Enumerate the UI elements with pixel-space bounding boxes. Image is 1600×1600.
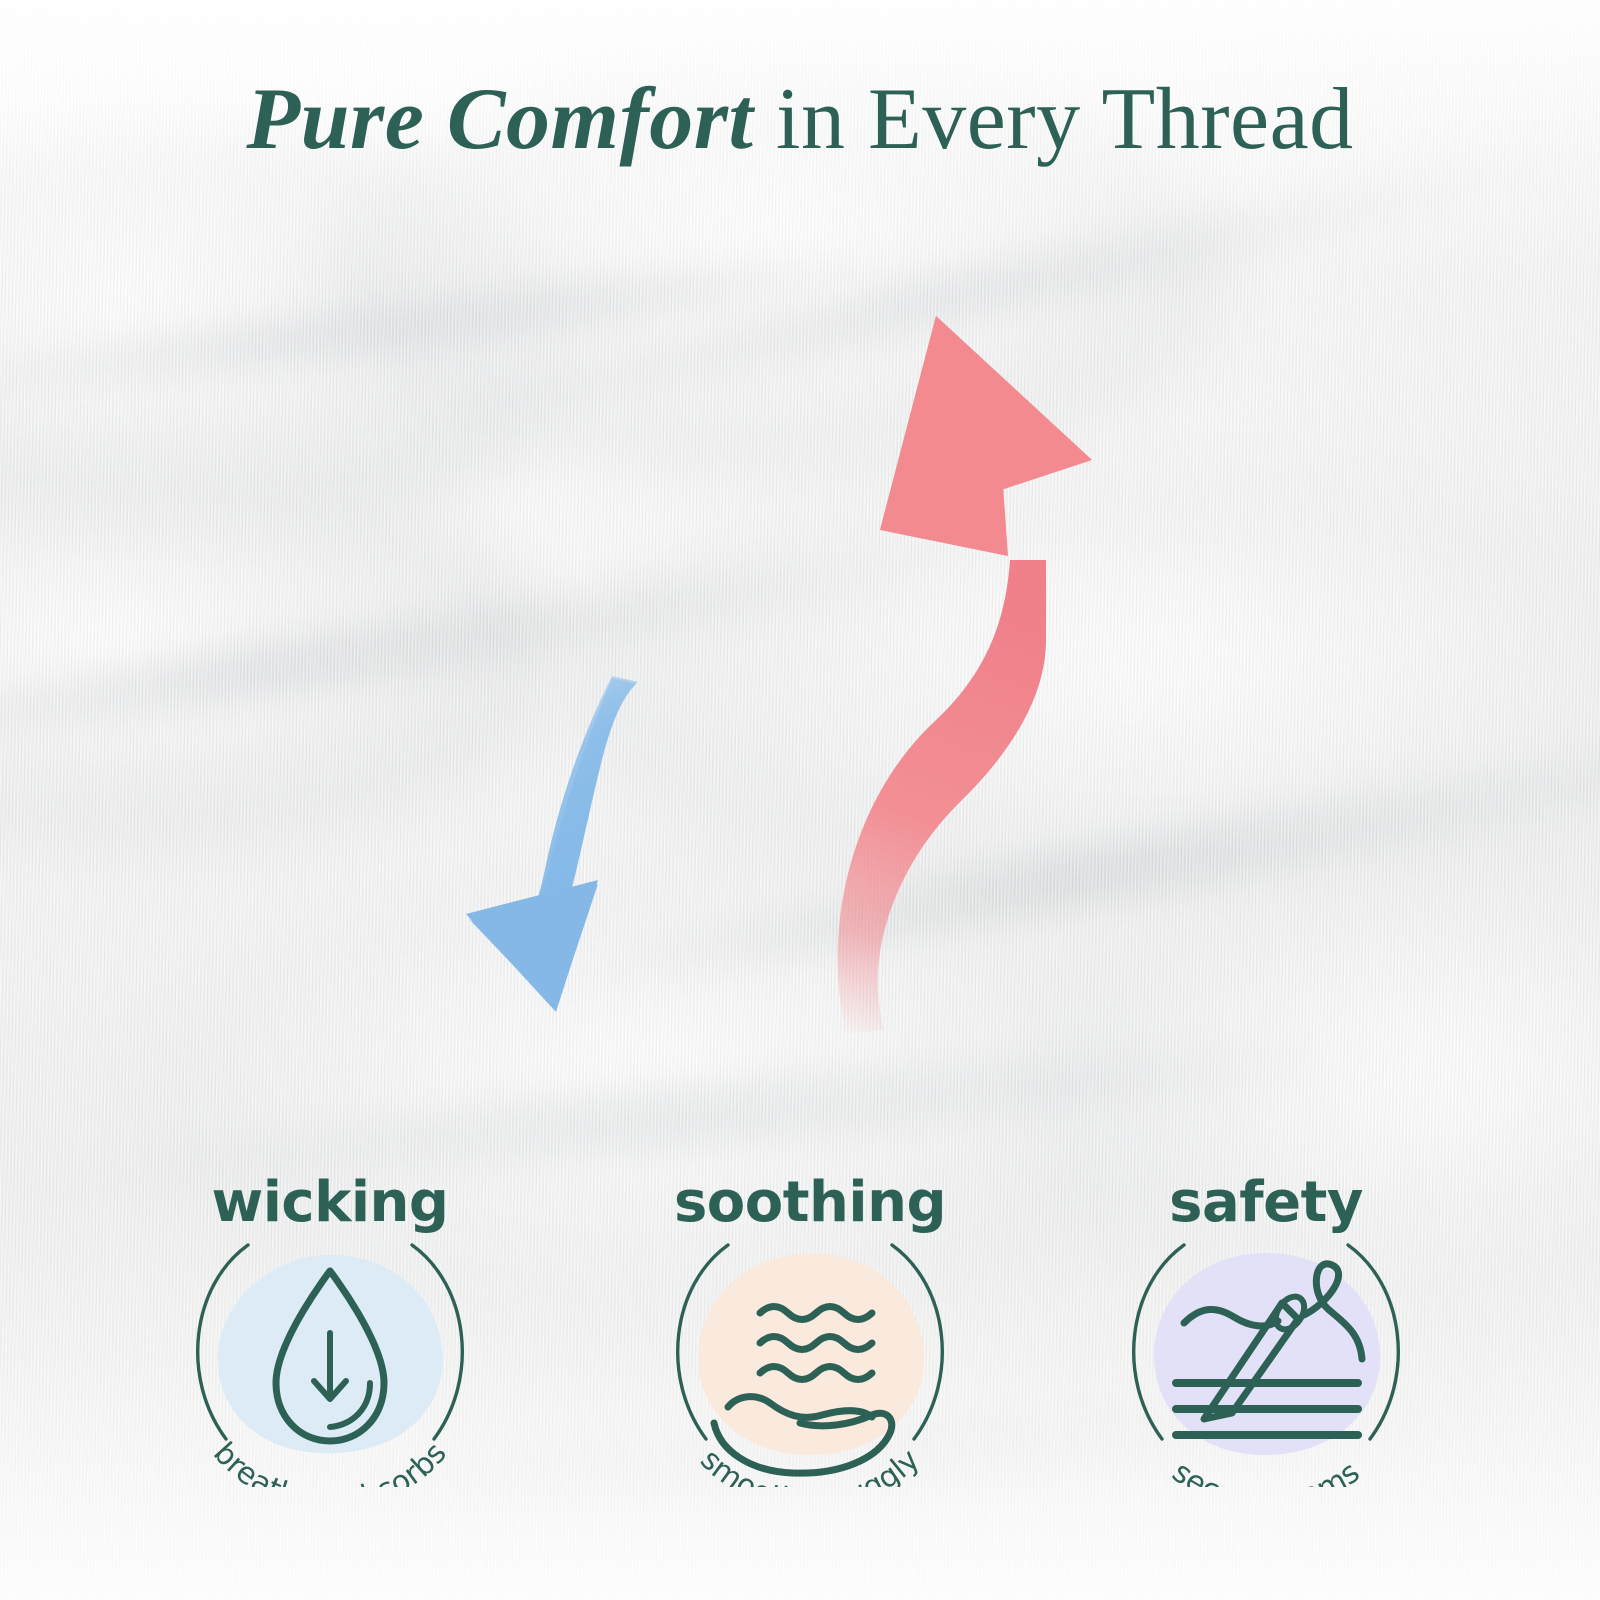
badge-art-safety: secure seams (1066, 1237, 1466, 1487)
feature-badge-soothing[interactable]: soothing smooth, snuggly (610, 1175, 1010, 1487)
moisture-up-arrow (835, 316, 1092, 1040)
headline-rest: in Every Thread (754, 71, 1354, 168)
feature-badge-safety[interactable]: safety secure seams (1066, 1175, 1466, 1487)
feature-badge-row: wicking breathes, absorbs (0, 1175, 1600, 1515)
badge-caption-safety: secure seams (1166, 1455, 1367, 1487)
safety-blob (1154, 1253, 1380, 1455)
badge-title-soothing: soothing (610, 1175, 1010, 1231)
badge-title-wicking: wicking (130, 1175, 530, 1231)
badge-art-soothing: smooth, snuggly (610, 1237, 1010, 1487)
feature-badge-wicking[interactable]: wicking breathes, absorbs (130, 1175, 530, 1487)
product-feature-graphic: Pure Comfort in Every Thread wicking bre… (0, 0, 1600, 1600)
headline-emphasis: Pure Comfort (246, 71, 753, 168)
badge-art-wicking: breathes, absorbs (130, 1237, 530, 1487)
air-down-arrow (466, 676, 638, 1012)
page-title: Pure Comfort in Every Thread (0, 74, 1600, 166)
badge-title-safety: safety (1066, 1175, 1466, 1231)
